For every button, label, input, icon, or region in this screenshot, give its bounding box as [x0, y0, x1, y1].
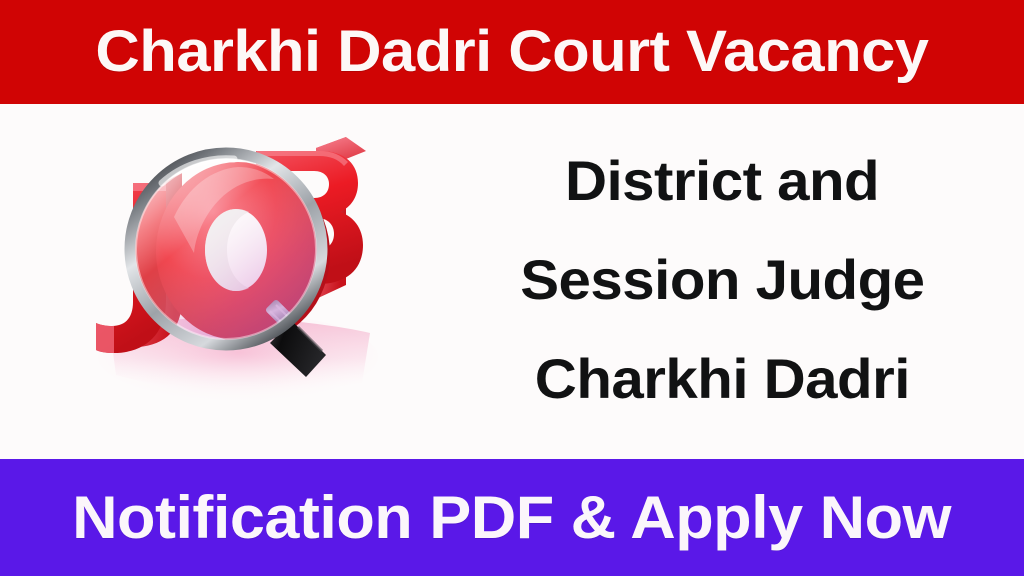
middle-content-area: District and Session Judge Charkhi Dadri	[0, 104, 1024, 459]
headline-line-3: Charkhi Dadri	[534, 329, 909, 428]
top-banner-title: Charkhi Dadri Court Vacancy	[95, 21, 928, 83]
headline-line-1: District and	[565, 131, 879, 230]
job-magnifier-graphic	[70, 121, 410, 421]
bottom-banner: Notification PDF & Apply Now	[0, 459, 1024, 576]
top-banner: Charkhi Dadri Court Vacancy	[0, 0, 1024, 104]
headline-line-2: Session Judge	[520, 230, 924, 329]
job-magnifier-svg	[70, 121, 410, 421]
bottom-banner-title: Notification PDF & Apply Now	[73, 485, 952, 551]
poster-root: Charkhi Dadri Court Vacancy	[0, 0, 1024, 576]
headline-block: District and Session Judge Charkhi Dadri	[420, 124, 1024, 434]
